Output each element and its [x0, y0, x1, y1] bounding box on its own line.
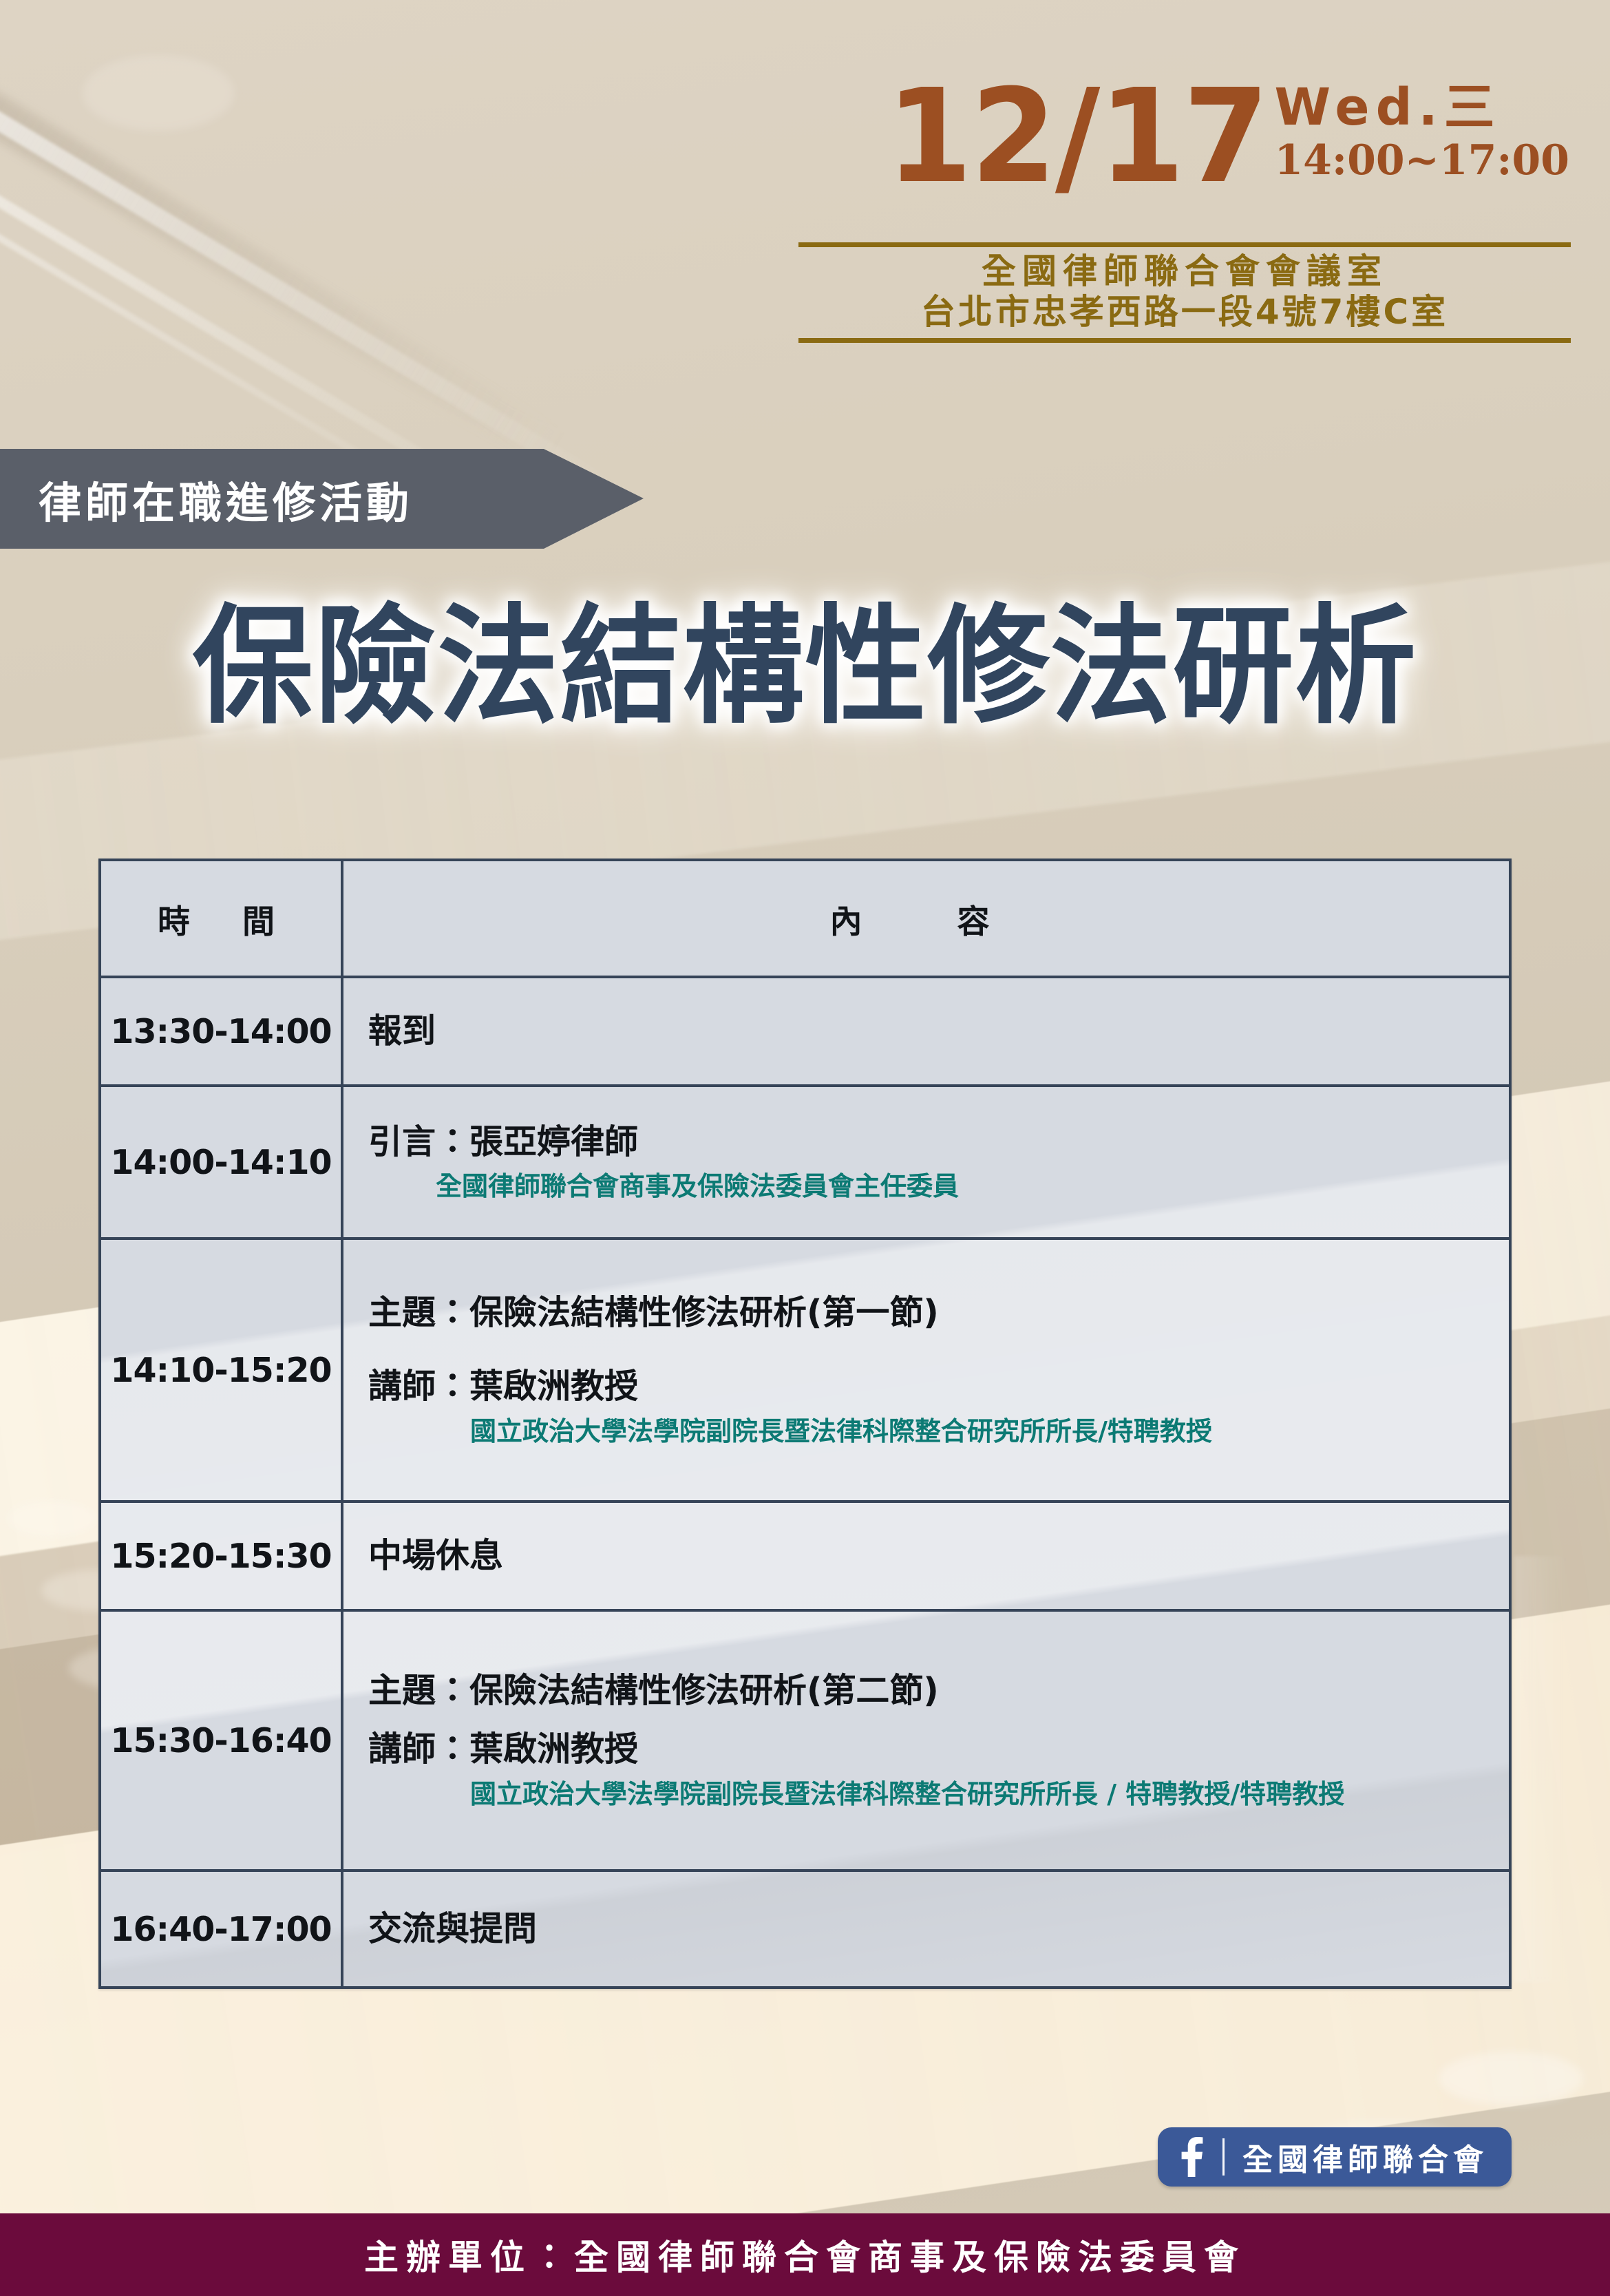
facebook-badge-divider: [1222, 2138, 1225, 2176]
row-content: 中場休息: [342, 1502, 1509, 1610]
facebook-page-name: 全國律師聯合會: [1242, 2135, 1488, 2179]
row-content: 主題：保險法結構性修法研析(第一節) 講師：葉啟洲教授 國立政治大學法學院副院長…: [342, 1239, 1509, 1502]
event-weekday: Wed.三: [1274, 81, 1501, 135]
event-weekday-zh: 三: [1444, 78, 1501, 137]
header-cell-content: 內容: [342, 861, 1509, 977]
row-content: 交流與提問: [342, 1871, 1509, 1986]
table-row: 14:00-14:10 引言：張亞婷律師 全國律師聯合會商事及保險法委員會主任委…: [101, 1086, 1509, 1239]
row-time: 15:30-16:40: [101, 1610, 342, 1871]
row-time: 14:00-14:10: [101, 1086, 342, 1239]
row-content: 引言：張亞婷律師 全國律師聯合會商事及保險法委員會主任委員: [342, 1086, 1509, 1239]
table-row: 13:30-14:00 報到: [101, 977, 1509, 1086]
event-date: 12/17: [887, 76, 1268, 199]
row-sub-line: 全國律師聯合會商事及保險法委員會主任委員: [436, 1170, 1485, 1203]
row-time: 13:30-14:00: [101, 977, 342, 1086]
row-main-line: 主題：保險法結構性修法研析(第一節): [368, 1292, 1485, 1334]
background-blob-1: [7, 1501, 96, 1537]
background-vertical-stripe-2: [1514, 1556, 1569, 1983]
facebook-icon: [1176, 2136, 1207, 2178]
venue-name: 全國律師聯合會會議室: [798, 251, 1571, 292]
background-blob-5: [1439, 2052, 1583, 2105]
category-banner: 律師在職進修活動: [0, 449, 644, 549]
header-cell-time: 時間: [101, 861, 342, 977]
table-row: 15:20-15:30 中場休息: [101, 1502, 1509, 1610]
facebook-badge[interactable]: 全國律師聯合會: [1158, 2127, 1512, 2187]
schedule-table-container: 時間 內容 13:30-14:00 報到 14:00-14:10 引言：張亞婷律…: [98, 859, 1512, 1989]
table-row: 16:40-17:00 交流與提問: [101, 1871, 1509, 1986]
header-time-char2: 間: [242, 903, 284, 941]
row-main-line-2: 講師：葉啟洲教授: [368, 1728, 1485, 1770]
table-row: 14:10-15:20 主題：保險法結構性修法研析(第一節) 講師：葉啟洲教授 …: [101, 1239, 1509, 1502]
row-main-line-2: 講師：葉啟洲教授: [368, 1365, 1485, 1407]
poster-root: 12/17 Wed.三 14:00~17:00 全國律師聯合會會議室 台北市忠孝…: [0, 0, 1610, 2296]
row-main-line: 交流與提問: [368, 1908, 1485, 1950]
row-main-line: 主題：保險法結構性修法研析(第二節): [368, 1670, 1485, 1712]
organizer-bar: 主辦單位：全國律師聯合會商事及保險法委員會: [0, 2213, 1610, 2296]
row-main-line: 引言：張亞婷律師: [368, 1121, 1485, 1163]
organizer-text: 主辦單位：全國律師聯合會商事及保險法委員會: [364, 2230, 1246, 2279]
venue-block: 全國律師聯合會會議室 台北市忠孝西路一段4號7樓C室: [798, 242, 1571, 343]
header-content-char1: 內: [830, 903, 872, 941]
row-main-line: 中場休息: [368, 1535, 1485, 1577]
row-time: 16:40-17:00: [101, 1871, 342, 1986]
row-time: 15:20-15:30: [101, 1502, 342, 1610]
row-spacer: [368, 1334, 1485, 1365]
row-content: 主題：保險法結構性修法研析(第二節) 講師：葉啟洲教授 國立政治大學法學院副院長…: [342, 1610, 1509, 1871]
schedule-table: 時間 內容 13:30-14:00 報到 14:00-14:10 引言：張亞婷律…: [101, 861, 1509, 1986]
row-sub-line: 國立政治大學法學院副院長暨法律科際整合研究所所長/特聘教授: [470, 1415, 1485, 1449]
row-sub-line: 國立政治大學法學院副院長暨法律科際整合研究所所長 / 特聘教授/特聘教授: [470, 1778, 1485, 1811]
event-weekday-en: Wed.: [1274, 78, 1443, 137]
row-time: 14:10-15:20: [101, 1239, 342, 1502]
row-content: 報到: [342, 977, 1509, 1086]
table-row: 15:30-16:40 主題：保險法結構性修法研析(第二節) 講師：葉啟洲教授 …: [101, 1610, 1509, 1871]
background-blob-4: [83, 55, 234, 131]
header-content-char2: 容: [957, 903, 999, 941]
page-title: 保險法結構性修法研析: [0, 596, 1610, 737]
venue-address: 台北市忠孝西路一段4號7樓C室: [798, 292, 1571, 333]
event-date-block: 12/17 Wed.三 14:00~17:00: [606, 76, 1569, 199]
event-time-range: 14:00~17:00: [1274, 138, 1569, 183]
header-time-char1: 時: [158, 903, 200, 941]
table-header-row: 時間 內容: [101, 861, 1509, 977]
row-main-line: 報到: [368, 1010, 1485, 1052]
category-banner-label: 律師在職進修活動: [39, 468, 413, 530]
